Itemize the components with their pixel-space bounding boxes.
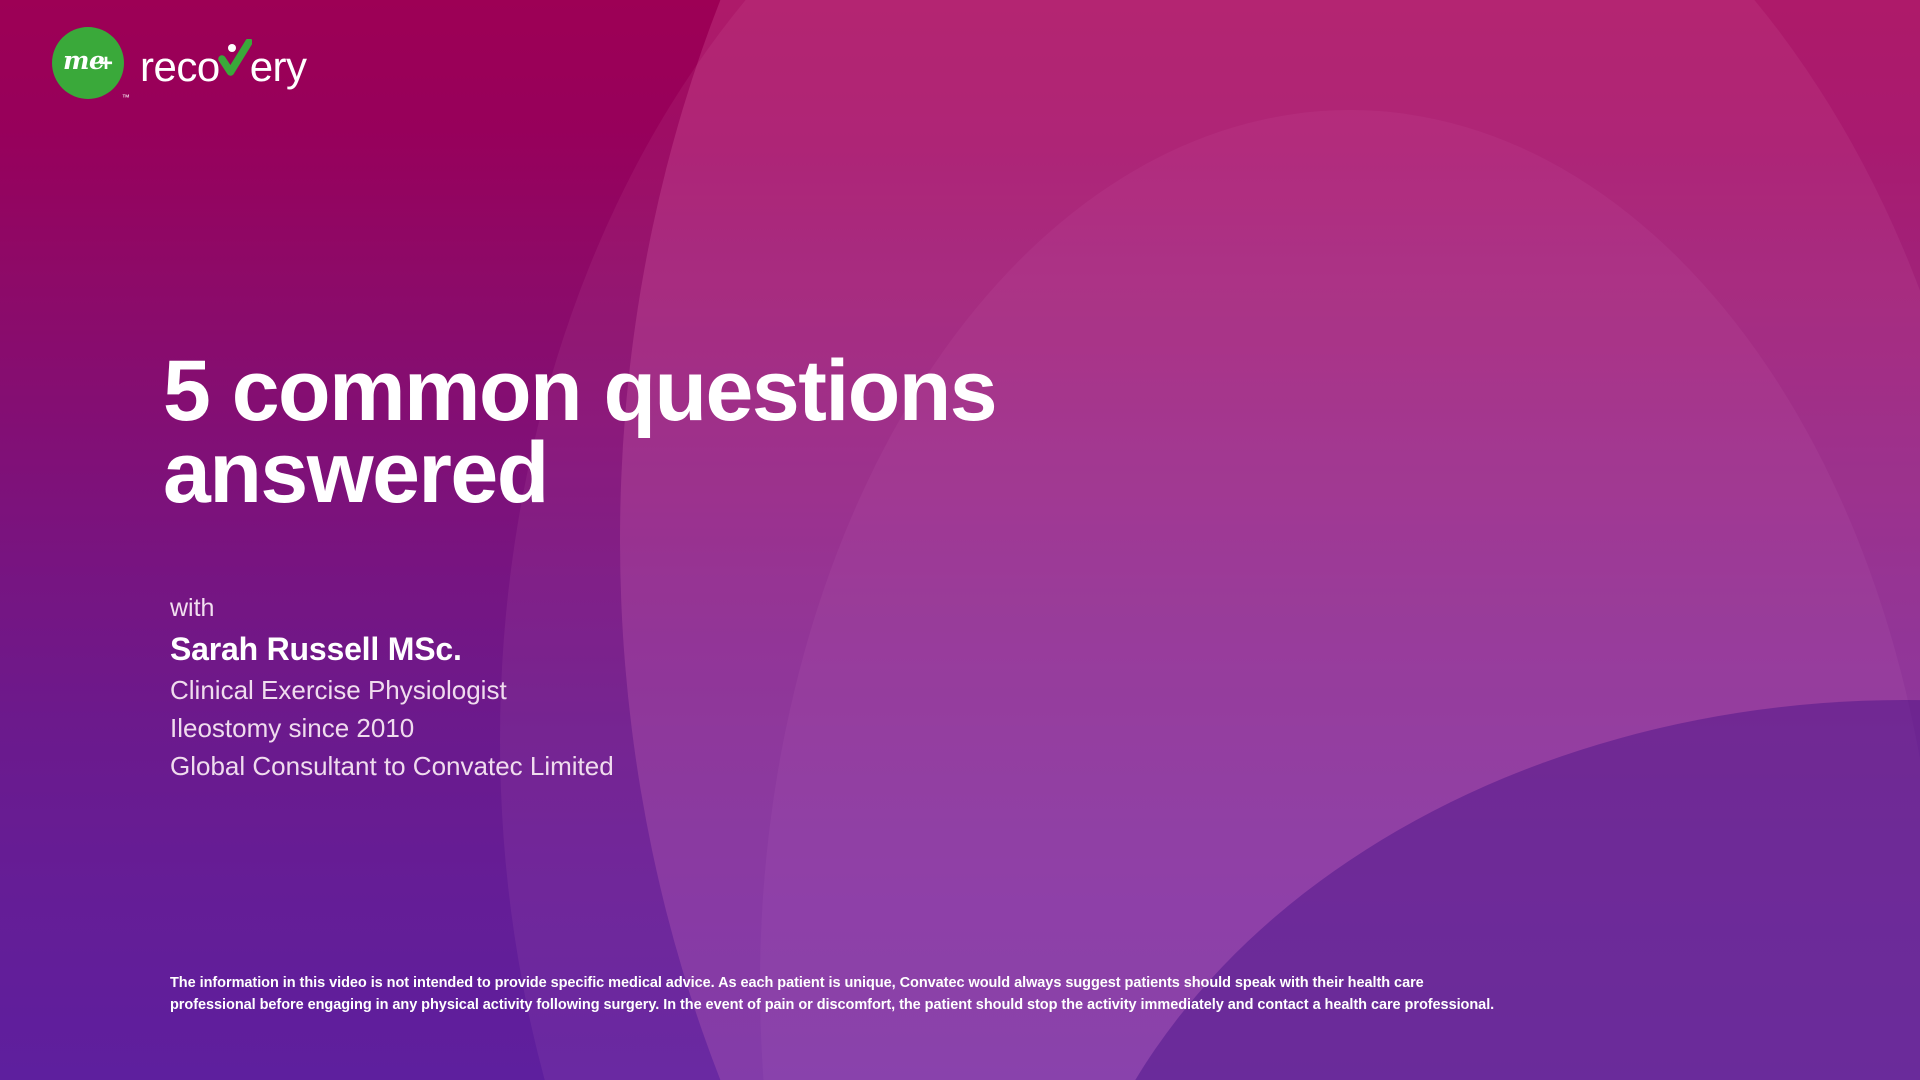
- wordmark-suffix: ery: [250, 46, 307, 88]
- trademark-icon: ™: [122, 93, 130, 102]
- disclaimer-line-1: The information in this video is not int…: [170, 972, 1620, 994]
- brand-logo: me + ™ reco ery: [52, 27, 307, 99]
- background-soft-arc-shape: [500, 0, 1920, 1080]
- wordmark-prefix: reco: [140, 46, 220, 88]
- green-checkmark-icon: [220, 39, 250, 81]
- presenter-name: Sarah Russell MSc.: [170, 626, 614, 672]
- disclaimer-line-2: professional before engaging in any phys…: [170, 994, 1620, 1016]
- presenter-byline: with Sarah Russell MSc. Clinical Exercis…: [170, 592, 614, 785]
- plus-icon: +: [99, 52, 113, 76]
- me-plus-circle-icon: me + ™: [52, 27, 124, 99]
- presenter-credential: Ileostomy since 2010: [170, 710, 614, 748]
- byline-with-label: with: [170, 592, 614, 626]
- presenter-credential: Global Consultant to Convatec Limited: [170, 748, 614, 786]
- background-wedge-shape: [760, 110, 1920, 1080]
- logo-wordmark: reco ery: [140, 39, 307, 88]
- background-pink-sweep-shape: [620, 0, 1920, 1080]
- page-title-line-1: 5 common questions: [163, 350, 1283, 433]
- page-title-line-2: answered: [163, 432, 1283, 515]
- checkmark-dot-icon: [228, 44, 236, 52]
- presenter-credential: Clinical Exercise Physiologist: [170, 672, 614, 710]
- background-dark-corner-shape: [1055, 700, 1920, 1080]
- title-slide: me + ™ reco ery 5 common questions answe…: [0, 0, 1920, 1080]
- page-title: 5 common questions answered: [163, 350, 1283, 515]
- medical-disclaimer: The information in this video is not int…: [170, 972, 1620, 1016]
